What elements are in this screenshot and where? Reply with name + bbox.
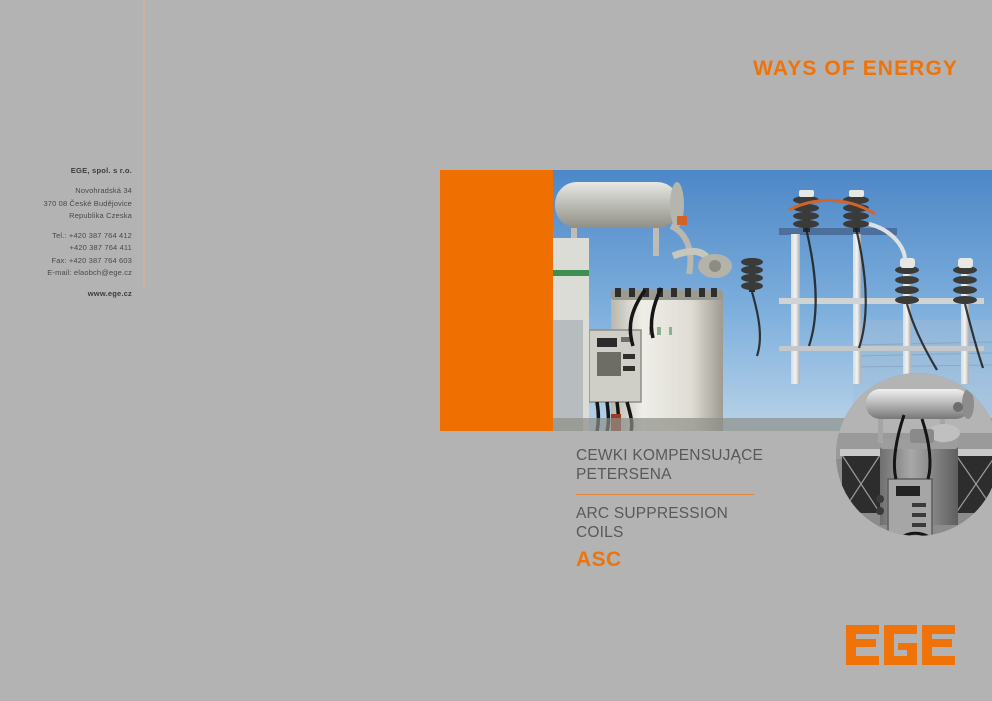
title-english-line-1: ARC SUPPRESSION xyxy=(576,504,906,523)
title-divider-rule xyxy=(576,494,754,495)
brochure-cover: WAYS OF ENERGY EGE, spol. s r.o. Novohra… xyxy=(0,0,992,701)
company-address: Novohradská 34 370 08 České Budějovice R… xyxy=(0,185,132,222)
header-slogan: WAYS OF ENERGY xyxy=(753,57,958,81)
title-block: CEWKI KOMPENSUJĄCE PETERSENA ARC SUPPRES… xyxy=(576,446,906,572)
title-polish-line-1: CEWKI KOMPENSUJĄCE xyxy=(576,446,906,465)
title-english: ARC SUPPRESSION COILS xyxy=(576,504,906,542)
address-line-country: Republika Czeska xyxy=(0,210,132,222)
contact-block: EGE, spol. s r.o. Novohradská 34 370 08 … xyxy=(0,165,132,301)
title-polish: CEWKI KOMPENSUJĄCE PETERSENA xyxy=(576,446,906,484)
fax-number: Fax: +420 387 764 603 xyxy=(0,255,132,267)
title-polish-line-2: PETERSENA xyxy=(576,465,906,484)
address-line-street: Novohradská 34 xyxy=(0,185,132,197)
phone-secondary: +420 387 764 411 xyxy=(0,242,132,254)
vertical-divider xyxy=(143,0,145,289)
address-line-city: 370 08 České Budějovice xyxy=(0,198,132,210)
orange-color-block xyxy=(440,170,553,431)
phone-primary: Tel.: +420 387 764 412 xyxy=(0,230,132,242)
website-url: www.ege.cz xyxy=(0,288,132,300)
title-english-line-2: COILS xyxy=(576,523,906,542)
product-code: ASC xyxy=(576,548,906,572)
ege-logo xyxy=(846,625,961,665)
email-address: E-mail: elaobch@ege.cz xyxy=(0,267,132,279)
company-name: EGE, spol. s r.o. xyxy=(0,165,132,177)
company-contacts: Tel.: +420 387 764 412 +420 387 764 411 … xyxy=(0,230,132,279)
